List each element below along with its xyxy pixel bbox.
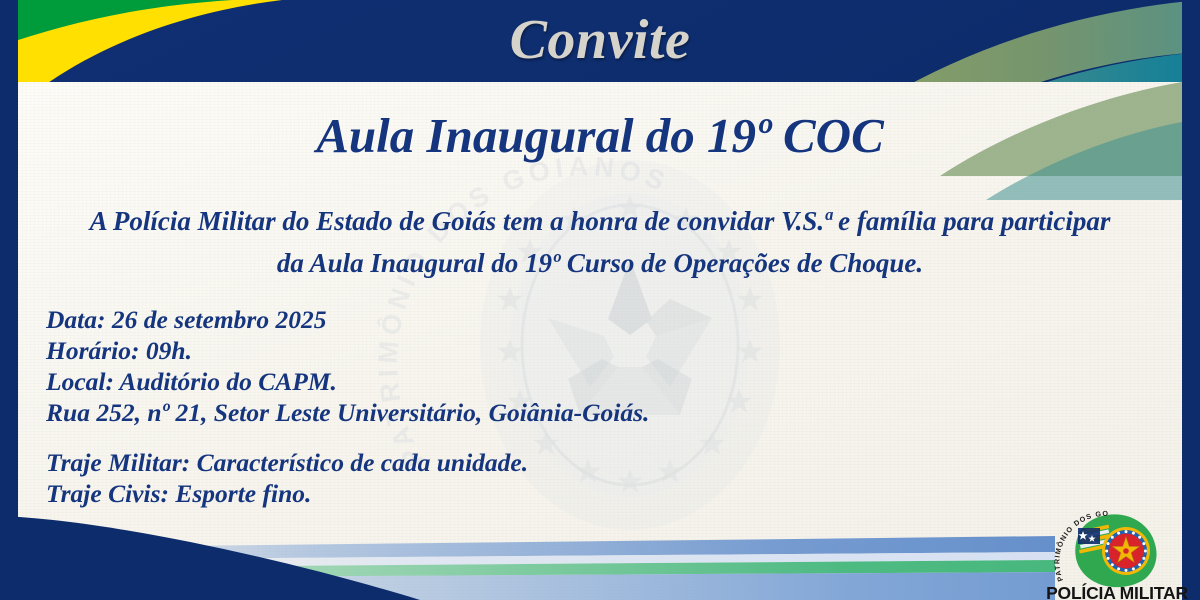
invitation-poster: PATRIMÔNIO DOS GOIANOS bbox=[0, 0, 1200, 600]
invitation-line-2: da Aula Inaugural do 19º Curso de Operaç… bbox=[40, 242, 1160, 284]
dress-code-military: Traje Militar: Característico de cada un… bbox=[46, 447, 946, 478]
invitation-content: Aula Inaugural do 19º COC A Polícia Mili… bbox=[18, 82, 1182, 600]
invitation-line-1: A Polícia Militar do Estado de Goiás tem… bbox=[40, 200, 1160, 242]
detail-venue: Local: Auditório do CAPM. bbox=[46, 366, 946, 397]
invitation-paragraph: A Polícia Militar do Estado de Goiás tem… bbox=[40, 200, 1160, 284]
detail-address: Rua 252, nº 21, Setor Leste Universitári… bbox=[46, 397, 946, 428]
dress-code: Traje Militar: Característico de cada un… bbox=[46, 447, 946, 509]
policia-militar-logo: PATRIMÔNIO DOS GOIANOS POLÍCIA MILITAR bbox=[1042, 504, 1192, 600]
event-title: Aula Inaugural do 19º COC bbox=[18, 106, 1182, 166]
detail-date: Data: 26 de setembro 2025 bbox=[46, 304, 946, 335]
page-title: Convite bbox=[0, 6, 1200, 74]
logo-medallion bbox=[1102, 527, 1150, 575]
detail-time: Horário: 09h. bbox=[46, 335, 946, 366]
dress-code-civilian: Traje Civis: Esporte fino. bbox=[46, 478, 946, 509]
event-details: Data: 26 de setembro 2025 Horário: 09h. … bbox=[46, 304, 946, 428]
logo-wordmark: POLÍCIA MILITAR bbox=[1046, 582, 1188, 600]
